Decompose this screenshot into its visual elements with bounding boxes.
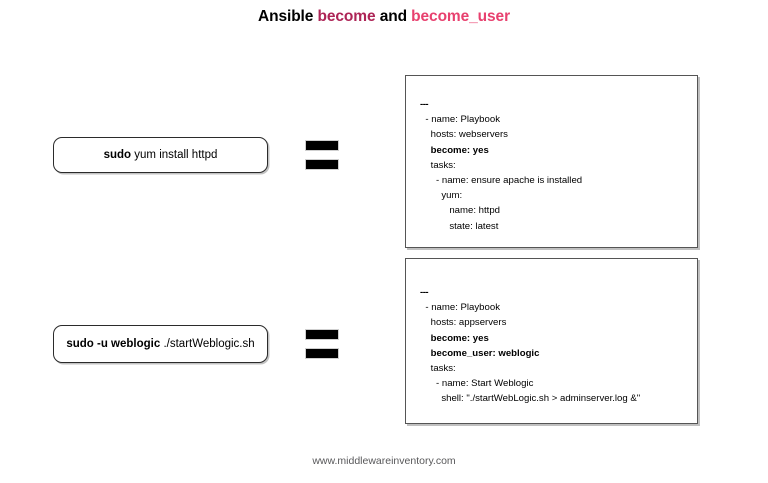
code-line: yum: <box>420 188 582 203</box>
command-regular-part: ./startWeblogic.sh <box>160 338 254 350</box>
code-line: hosts: webservers <box>420 127 582 142</box>
footer-website-url: www.middlewareinventory.com <box>0 455 768 467</box>
code-line: become: yes <box>420 331 640 346</box>
code-line: - name: Playbook <box>420 112 582 127</box>
code-line: - name: ensure apache is installed <box>420 173 582 188</box>
code-line: hosts: appservers <box>420 315 640 330</box>
yaml-document-start: --- <box>420 287 428 298</box>
command-regular-part: yum install httpd <box>131 149 217 161</box>
command-text: sudo -u weblogic ./startWeblogic.sh <box>66 338 254 350</box>
code-line: state: latest <box>420 219 582 234</box>
title-text-part1: Ansible <box>258 8 318 25</box>
code-line: shell: "./startWebLogic.sh > adminserver… <box>420 391 640 406</box>
playbook-code-box-become: --- - name: Playbook hosts: webservers b… <box>405 75 698 248</box>
code-line: - name: Start Weblogic <box>420 376 640 391</box>
title-text-part2: and <box>375 8 411 25</box>
equals-bar-top <box>305 329 339 340</box>
command-bold-part: sudo <box>104 149 131 161</box>
equals-bar-bottom <box>305 348 339 359</box>
equals-icon <box>305 140 339 170</box>
playbook-code-lines: --- - name: Playbook hosts: webservers b… <box>420 97 582 234</box>
code-line: become_user: weblogic <box>420 346 640 361</box>
playbook-code-box-become-user: --- - name: Playbook hosts: appservers b… <box>405 258 698 424</box>
equals-icon <box>305 329 339 359</box>
equals-bar-top <box>305 140 339 151</box>
page-title: Ansible become and become_user <box>0 8 768 26</box>
playbook-code-lines: --- - name: Playbook hosts: appservers b… <box>420 285 640 407</box>
command-box-sudo-weblogic: sudo -u weblogic ./startWeblogic.sh <box>53 325 268 363</box>
code-line: --- <box>420 285 640 300</box>
title-keyword-become: become <box>318 8 376 25</box>
code-line: tasks: <box>420 361 640 376</box>
command-bold-part: sudo -u weblogic <box>66 338 160 350</box>
code-line: become: yes <box>420 143 582 158</box>
code-line: name: httpd <box>420 203 582 218</box>
title-keyword-become-user: become_user <box>411 8 510 25</box>
code-line: --- <box>420 97 582 112</box>
yaml-document-start: --- <box>420 99 428 110</box>
code-line: tasks: <box>420 158 582 173</box>
command-box-sudo-yum: sudo yum install httpd <box>53 137 268 173</box>
code-line: - name: Playbook <box>420 300 640 315</box>
equals-bar-bottom <box>305 159 339 170</box>
command-text: sudo yum install httpd <box>104 149 218 161</box>
